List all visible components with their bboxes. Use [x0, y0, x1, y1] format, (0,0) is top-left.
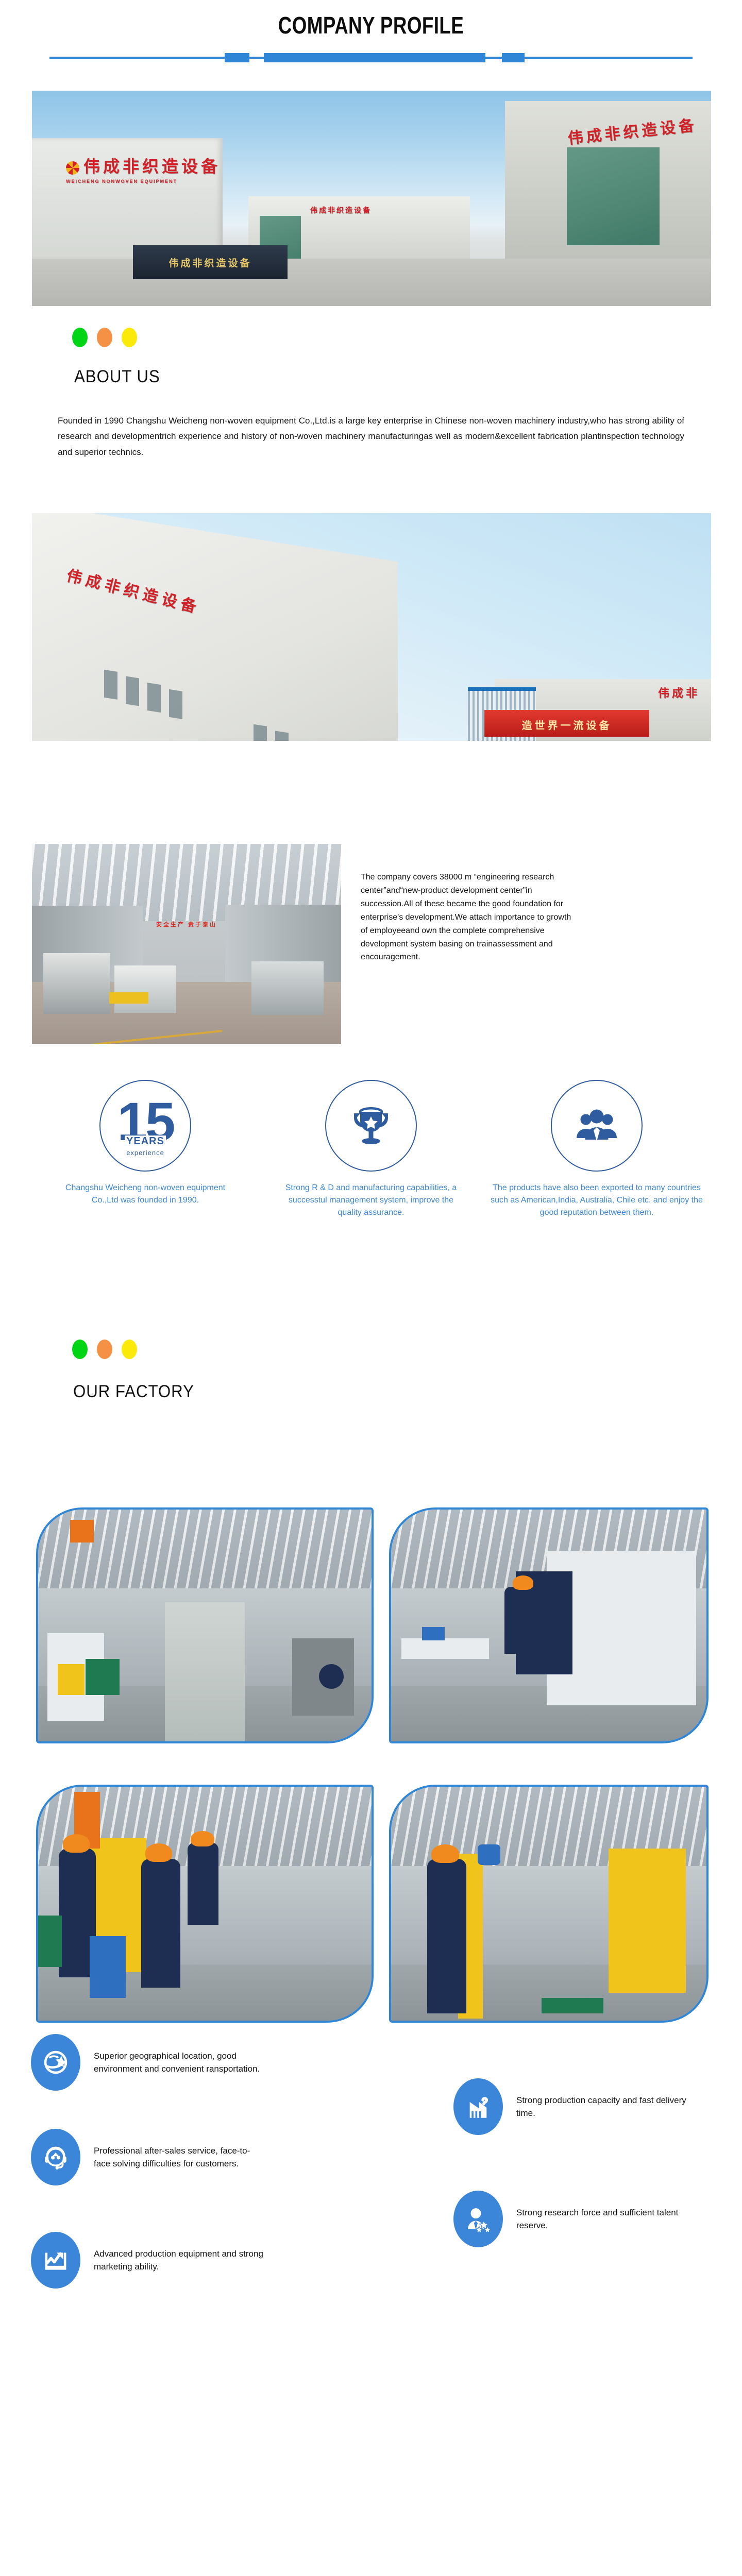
- about-us-heading: ABOUT US: [74, 367, 160, 387]
- worker-hardhat: [63, 1834, 90, 1853]
- headset-support-icon: [31, 2129, 80, 2185]
- red-slogan-text: 造世界一流设备: [484, 710, 649, 732]
- years-label: YEARS: [125, 1136, 166, 1147]
- factory-building-photo: 造世界一流设备 伟成非织造设备 伟成非: [32, 513, 711, 741]
- assembly-line-photo: [36, 1507, 374, 1743]
- hoist-motor: [478, 1844, 500, 1865]
- green-part: [86, 1659, 120, 1695]
- building-right-sign: 伟成非: [658, 684, 700, 701]
- green-belt: [38, 1916, 62, 1967]
- left-building-sign-en: WEICHENG NONWOVEN EQUIPMENT: [66, 179, 221, 184]
- company-gear-logo-icon: [66, 161, 79, 175]
- worker-hardhat: [513, 1575, 533, 1590]
- feature-text: Advanced production equipment and strong…: [94, 2247, 264, 2274]
- machine-unit: [251, 961, 324, 1015]
- worker-figure: [427, 1859, 466, 2013]
- worker-figure: [504, 1587, 541, 1654]
- facade-window: [126, 676, 139, 706]
- facade-window: [169, 689, 182, 719]
- dot-green-icon: [72, 1340, 88, 1359]
- gate-wall-sign-text: 伟成非织造设备: [133, 256, 288, 269]
- middle-building-sign: 伟成非织造设备: [310, 205, 372, 215]
- feature-after-sales-service: Professional after-sales service, face-t…: [31, 2129, 264, 2185]
- about-section-dots: [72, 328, 137, 347]
- divider-segment-right: [502, 53, 525, 62]
- factory-icon: [453, 2078, 503, 2135]
- feature-advanced-equipment: Advanced production equipment and strong…: [31, 2232, 264, 2289]
- feature-text: Strong production capacity and fast deli…: [516, 2094, 702, 2120]
- yellow-cart: [109, 992, 148, 1004]
- center-aisle: [165, 1602, 245, 1741]
- machine-unit: [43, 953, 110, 1014]
- orange-hoist: [70, 1520, 94, 1543]
- worker-figure: [188, 1842, 218, 1925]
- years-graphic: 15 YEARS experience: [107, 1095, 184, 1157]
- factory-section-dots: [72, 1340, 137, 1359]
- safety-slogan-sign: 安全生产 责于泰山: [156, 920, 217, 928]
- dot-yellow-icon: [122, 1340, 137, 1359]
- feature-research-force: Strong research force and sufficient tal…: [453, 2191, 702, 2247]
- facade-window: [275, 731, 289, 741]
- divider-segment-center: [264, 53, 485, 62]
- feature-text: Professional after-sales service, face-t…: [94, 2144, 264, 2171]
- worker-hardhat: [191, 1831, 214, 1846]
- dot-orange-icon: [97, 328, 112, 347]
- about-us-paragraph: Founded in 1990 Changshu Weicheng non-wo…: [58, 413, 684, 460]
- factory-gate-photo: 伟成非织造设备 伟成非织造设备 WEICHENG NONWOVEN EQUIPM…: [32, 91, 711, 306]
- divider-segment-left: [225, 53, 249, 62]
- fan-wheel: [319, 1664, 344, 1689]
- gate-wall-sign: 伟成非织造设备: [133, 245, 288, 279]
- title-divider: [49, 52, 693, 63]
- facade-window: [254, 724, 267, 741]
- red-slogan-banner: 造世界一流设备: [484, 710, 649, 737]
- globe-airplane-icon: [31, 2034, 80, 2091]
- feature-text: Superior geographical location, good env…: [94, 2049, 264, 2076]
- crane-lifting-photo: [389, 1785, 709, 2023]
- team-people-icon: [551, 1080, 643, 1172]
- right-building-glass: [567, 147, 660, 245]
- years-sublabel: experience: [125, 1149, 166, 1157]
- our-factory-heading: OUR FACTORY: [73, 1382, 194, 1402]
- factory-interior-photo: 安全生产 责于泰山: [32, 844, 341, 1044]
- blue-cabinet: [90, 1936, 126, 1998]
- badge-card-years: 15 YEARS experience Changshu Weicheng no…: [32, 1080, 259, 1207]
- person-stars-icon: [453, 2191, 503, 2247]
- page-title: COMPANY PROFILE: [74, 11, 668, 39]
- worker-hardhat: [431, 1844, 459, 1863]
- feature-geographical-location: Superior geographical location, good env…: [31, 2034, 264, 2091]
- facade-window: [104, 670, 117, 700]
- badge-card-rnd: Strong R & D and manufacturing capabilit…: [258, 1080, 484, 1219]
- green-belt: [542, 1998, 603, 2013]
- badge-card-export: The products have also been exported to …: [483, 1080, 710, 1219]
- workers-assembly-photo: [36, 1785, 374, 2023]
- blue-part: [422, 1627, 445, 1640]
- fifteen-years-badge-icon: 15 YEARS experience: [99, 1080, 191, 1172]
- feature-text: Strong research force and sufficient tal…: [516, 2206, 702, 2232]
- work-bench: [401, 1638, 489, 1659]
- yellow-machine-panel: [609, 1849, 686, 1993]
- trophy-icon: [325, 1080, 417, 1172]
- badge-caption: Strong R & D and manufacturing capabilit…: [258, 1182, 484, 1219]
- dot-green-icon: [72, 328, 88, 347]
- badge-caption: Changshu Weicheng non-woven equipment Co…: [32, 1182, 259, 1207]
- dot-yellow-icon: [122, 328, 137, 347]
- left-building-sign: 伟成非织造设备 WEICHENG NONWOVEN EQUIPMENT: [66, 154, 221, 184]
- worker-hardhat: [145, 1843, 172, 1862]
- worker-figure: [141, 1859, 180, 1988]
- feature-production-capacity: Strong production capacity and fast deli…: [453, 2078, 702, 2135]
- left-building-sign-cn: 伟成非织造设备: [83, 157, 221, 176]
- dot-orange-icon: [97, 1340, 112, 1359]
- about-side-paragraph: The company covers 38000 m “engineering …: [361, 871, 572, 964]
- yellow-part: [58, 1664, 85, 1695]
- cnc-machining-photo: [389, 1507, 709, 1743]
- facade-window: [147, 683, 161, 713]
- growth-chart-icon: [31, 2232, 80, 2289]
- machine-unit: [114, 965, 176, 1013]
- badge-caption: The products have also been exported to …: [483, 1182, 710, 1219]
